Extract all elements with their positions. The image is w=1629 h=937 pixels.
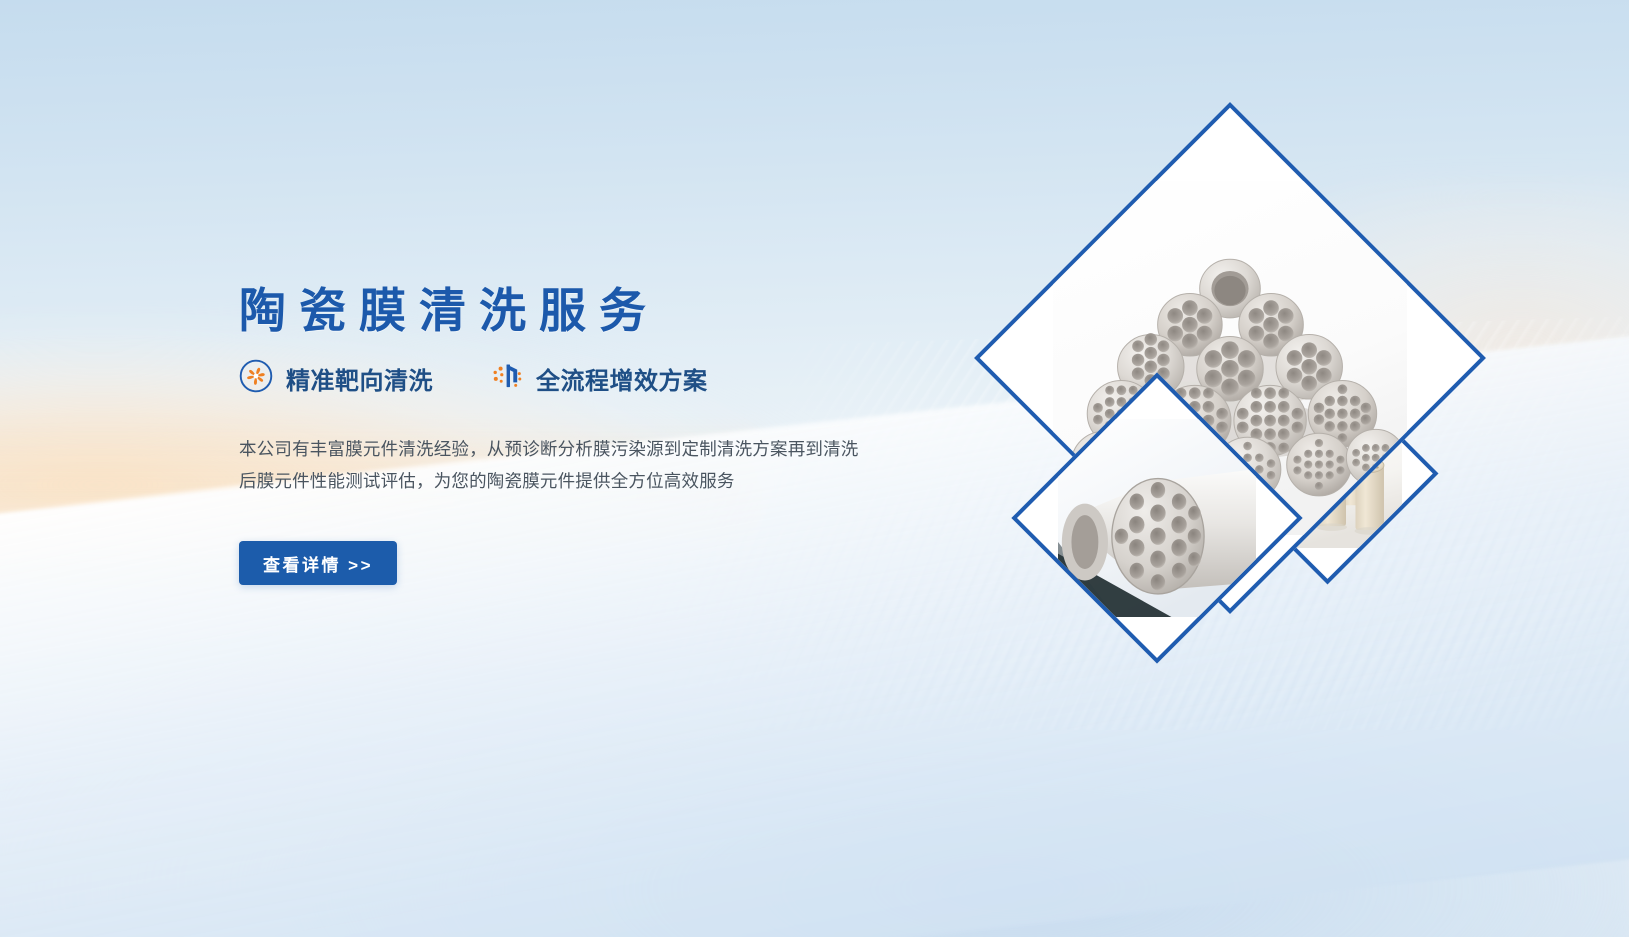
- feature-label-precision-cleaning: 精准靶向清洗: [286, 361, 433, 396]
- hero-banner: 陶瓷膜清洗服务: [0, 0, 1629, 937]
- feature-item-precision-cleaning: 精准靶向清洗: [239, 359, 433, 398]
- page-title: 陶瓷膜清洗服务: [239, 272, 659, 341]
- ceramic-membrane-closeup-graphic: [1058, 419, 1256, 617]
- feature-label-full-process: 全流程增效方案: [536, 361, 708, 396]
- hero-content: 陶瓷膜清洗服务: [239, 0, 999, 937]
- feature-list: 精准靶向清洗: [239, 359, 708, 398]
- view-details-button[interactable]: 查看详情 >>: [239, 541, 397, 585]
- hero-description-line-2: 后膜元件性能测试评估，为您的陶瓷膜元件提供全方位高效服务: [239, 471, 735, 491]
- hero-description-line-1: 本公司有丰富膜元件清洗经验，从预诊断分析膜污染源到定制清洗方案再到清洗: [239, 439, 859, 459]
- pinwheel-icon: [239, 359, 273, 398]
- hero-description: 本公司有丰富膜元件清洗经验，从预诊断分析膜污染源到定制清洗方案再到清洗 后膜元件…: [239, 433, 919, 497]
- feature-item-full-process: 全流程增效方案: [489, 359, 708, 398]
- flag-dots-icon: [489, 359, 523, 398]
